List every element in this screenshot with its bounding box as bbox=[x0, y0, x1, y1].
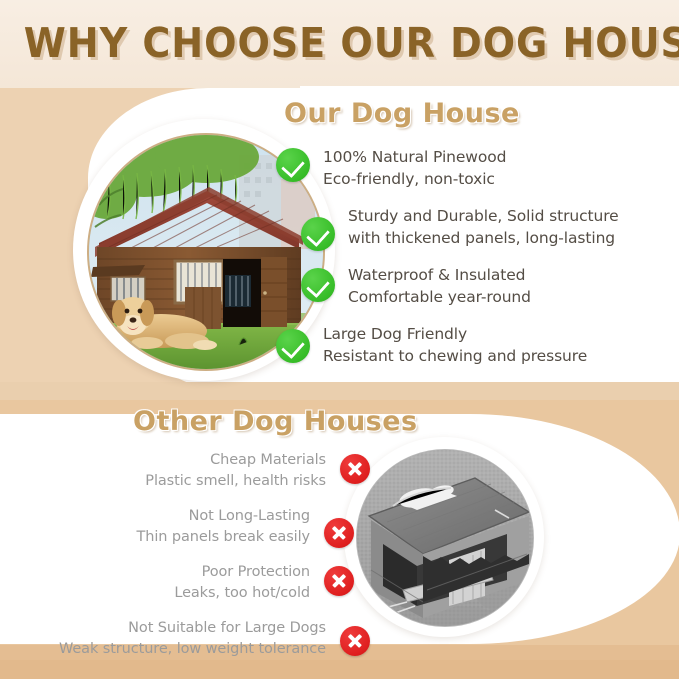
pros-list: 100% Natural Pinewood Eco-friendly, non-… bbox=[276, 146, 676, 382]
page-title: WHY CHOOSE OUR DOG HOUSE?" bbox=[24, 19, 655, 67]
check-icon bbox=[276, 329, 310, 363]
list-item: 100% Natural Pinewood Eco-friendly, non-… bbox=[276, 146, 676, 190]
infographic-root: WHY CHOOSE OUR DOG HOUSE?" Our Dog House bbox=[0, 0, 679, 679]
con-line-2: Plastic smell, health risks bbox=[20, 471, 326, 492]
con-line-2: Leaks, too hot/cold bbox=[20, 583, 310, 604]
list-item: Not Suitable for Large Dogs Weak structu… bbox=[20, 618, 370, 660]
cons-list: Cheap Materials Plastic smell, health ri… bbox=[20, 450, 370, 674]
pro-line-2: Resistant to chewing and pressure bbox=[323, 345, 676, 367]
check-icon bbox=[276, 148, 310, 182]
pro-line-1: 100% Natural Pinewood bbox=[323, 146, 676, 168]
check-icon bbox=[301, 217, 335, 251]
section-heading-our-dog-house: Our Dog House bbox=[284, 98, 520, 129]
broken-dog-house-photo-illustration bbox=[357, 450, 533, 626]
con-line-1: Cheap Materials bbox=[20, 450, 326, 471]
list-item: Waterproof & Insulated Comfortable year-… bbox=[276, 264, 676, 308]
list-item: Not Long-Lasting Thin panels break easil… bbox=[20, 506, 370, 548]
con-line-2: Weak structure, low weight tolerance bbox=[20, 639, 326, 660]
con-line-1: Not Long-Lasting bbox=[20, 506, 310, 527]
pro-line-1: Sturdy and Durable, Solid structure bbox=[348, 205, 676, 227]
check-icon bbox=[301, 268, 335, 302]
list-item: Poor Protection Leaks, too hot/cold bbox=[20, 562, 370, 604]
cross-icon bbox=[324, 566, 354, 596]
list-item: Cheap Materials Plastic smell, health ri… bbox=[20, 450, 370, 492]
con-line-2: Thin panels break easily bbox=[20, 527, 310, 548]
cross-icon bbox=[324, 518, 354, 548]
section-heading-other-dog-houses: Other Dog Houses bbox=[133, 406, 418, 437]
pro-line-2: Comfortable year-round bbox=[348, 286, 676, 308]
pro-line-2: Eco-friendly, non-toxic bbox=[323, 168, 676, 190]
pro-line-1: Waterproof & Insulated bbox=[348, 264, 676, 286]
con-line-1: Poor Protection bbox=[20, 562, 310, 583]
con-line-1: Not Suitable for Large Dogs bbox=[20, 618, 326, 639]
cross-icon bbox=[340, 626, 370, 656]
list-item: Large Dog Friendly Resistant to chewing … bbox=[276, 323, 676, 367]
list-item: Sturdy and Durable, Solid structure with… bbox=[276, 205, 676, 249]
cross-icon bbox=[340, 454, 370, 484]
pro-line-1: Large Dog Friendly bbox=[323, 323, 676, 345]
photo-other-dog-house bbox=[356, 449, 534, 627]
pro-line-2: with thickened panels, long-lasting bbox=[348, 227, 676, 249]
